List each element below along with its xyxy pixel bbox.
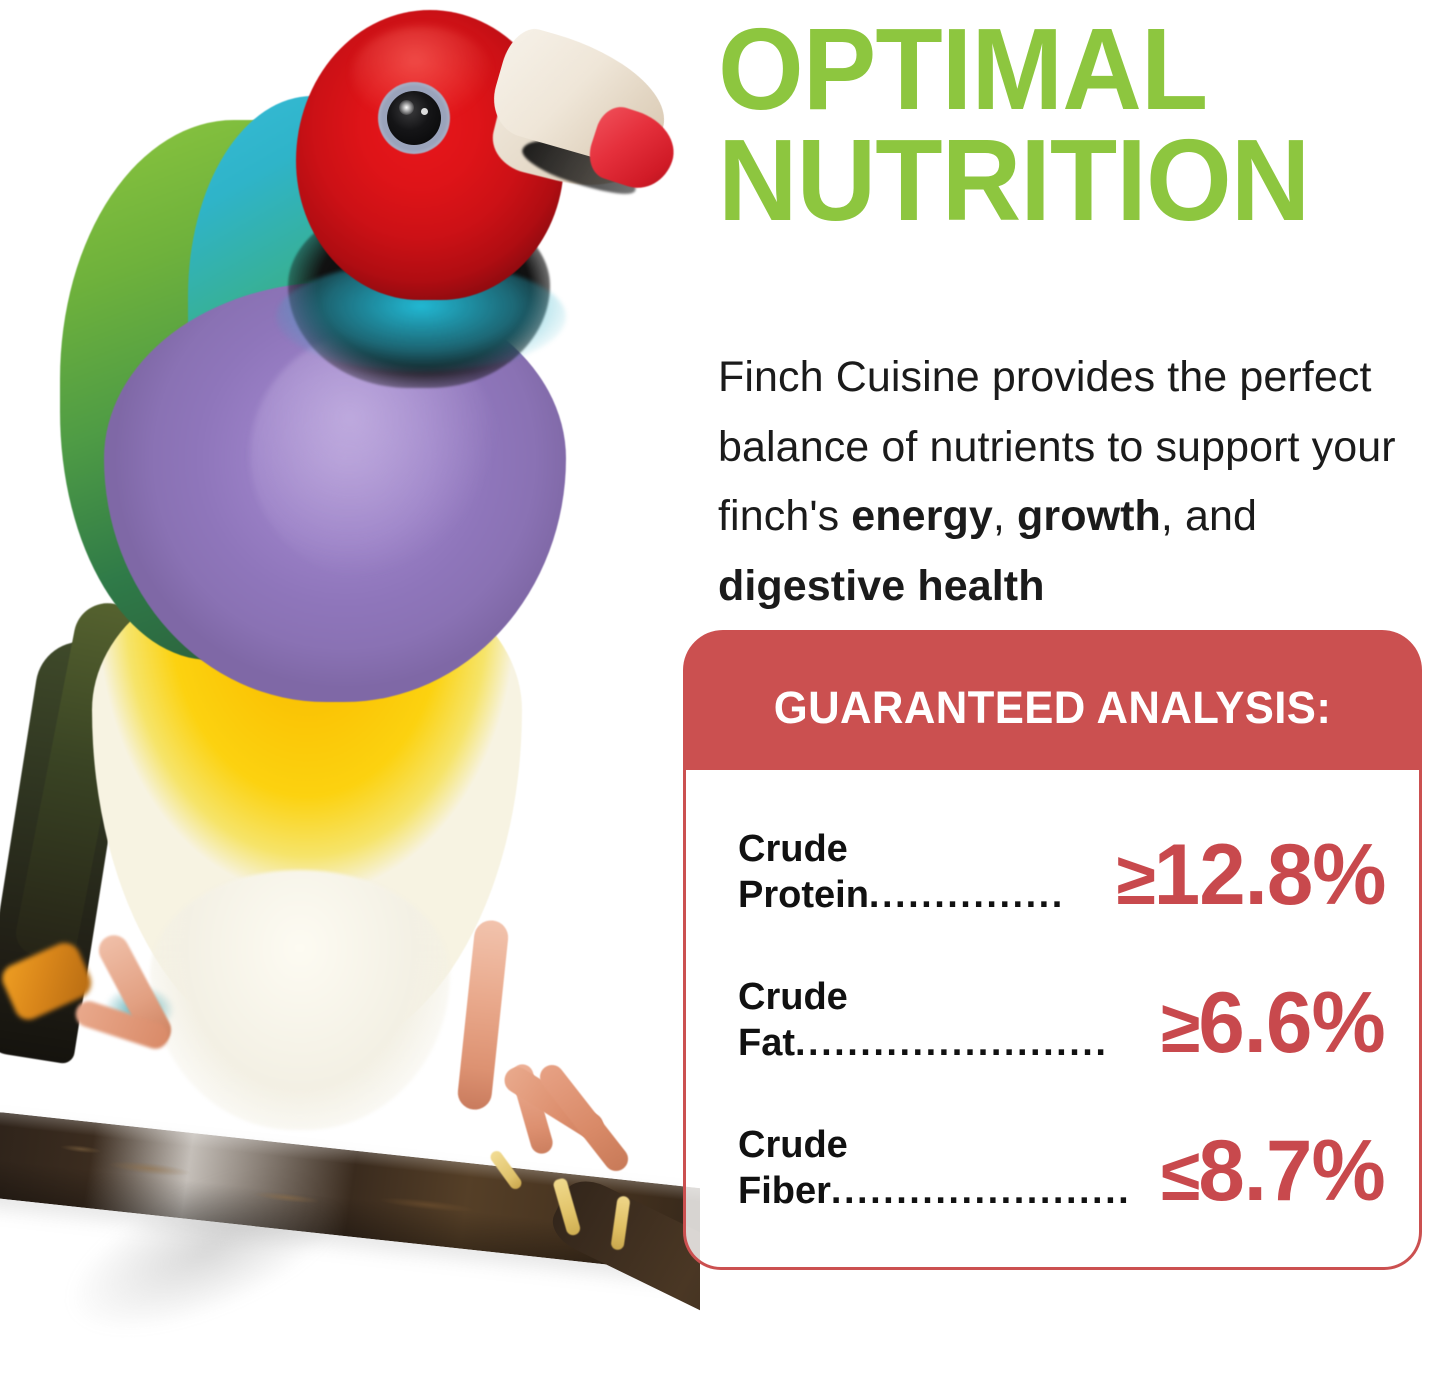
nutrient-label: Crude Fiber....................... <box>738 1122 1131 1215</box>
intro-paragraph: Finch Cuisine provides the perfect balan… <box>718 343 1430 622</box>
guaranteed-analysis-header: GUARANTEED ANALYSIS: <box>683 630 1422 770</box>
comparison-operator-icon: ≥ <box>1161 985 1198 1068</box>
lede-sep-1: , <box>993 492 1017 540</box>
finch-eye-glint <box>399 100 414 115</box>
headline-line-1: OPTIMAL <box>718 14 1383 125</box>
dot-leader: ....................... <box>831 1168 1131 1214</box>
comparison-operator-icon: ≤ <box>1161 1133 1198 1216</box>
comparison-operator-icon: ≥ <box>1116 837 1153 920</box>
dot-leader: ............... <box>869 872 1065 918</box>
nutrient-percent: 12.8% <box>1153 827 1385 923</box>
finch-white-vent <box>150 870 450 1130</box>
nutrient-label-line-1: Crude <box>738 976 848 1018</box>
nutrient-value: ≤8.7% <box>1161 1128 1385 1214</box>
nutrient-label-line-2: Fiber <box>738 1168 831 1214</box>
guaranteed-analysis-card: GUARANTEED ANALYSIS: Crude Protein......… <box>683 630 1422 1270</box>
nutrient-row: Crude Fat ........................ ≥6.6% <box>738 974 1385 1122</box>
nutrient-label: Crude Protein............... <box>738 826 1065 919</box>
finch-eye <box>387 91 441 145</box>
finch-eye-glint-secondary <box>421 108 428 115</box>
lede-bold-energy: energy <box>851 492 993 540</box>
nutrient-value: ≥6.6% <box>1161 980 1385 1066</box>
nutrient-label-line-1: Crude <box>738 1124 848 1166</box>
nutrient-label-line-1: Crude <box>738 828 848 870</box>
lede-sep-2: , and <box>1161 492 1257 540</box>
guaranteed-analysis-title: GUARANTEED ANALYSIS: <box>694 682 1411 734</box>
nutrient-label-line-2: Protein <box>738 872 869 918</box>
guaranteed-analysis-body: Crude Protein............... ≥12.8% Crud… <box>683 770 1422 1270</box>
finch-toe-middle <box>535 1060 633 1176</box>
nutrient-row: Crude Fiber....................... ≤8.7% <box>738 1122 1385 1270</box>
page-title: OPTIMAL NUTRITION <box>718 14 1383 237</box>
content-pane: OPTIMAL NUTRITION Finch Cuisine provides… <box>700 0 1445 1377</box>
lede-bold-growth: growth <box>1017 492 1161 540</box>
nutrient-label-line-2: Fat <box>738 1020 795 1066</box>
nutrient-label: Crude Fat ........................ <box>738 974 1108 1067</box>
dot-leader: ........................ <box>795 1020 1108 1066</box>
finch-photo <box>0 0 700 1377</box>
headline-line-2: NUTRITION <box>718 125 1383 236</box>
nutrient-list: Crude Protein............... ≥12.8% Crud… <box>686 770 1425 1270</box>
nutrient-value: ≥12.8% <box>1116 832 1385 918</box>
nutrient-percent: 6.6% <box>1199 975 1385 1071</box>
nutrient-percent: 8.7% <box>1199 1123 1385 1219</box>
product-infographic: OPTIMAL NUTRITION Finch Cuisine provides… <box>0 0 1445 1377</box>
nutrient-row: Crude Protein............... ≥12.8% <box>738 826 1385 974</box>
lede-bold-digestive-health: digestive health <box>718 562 1045 610</box>
